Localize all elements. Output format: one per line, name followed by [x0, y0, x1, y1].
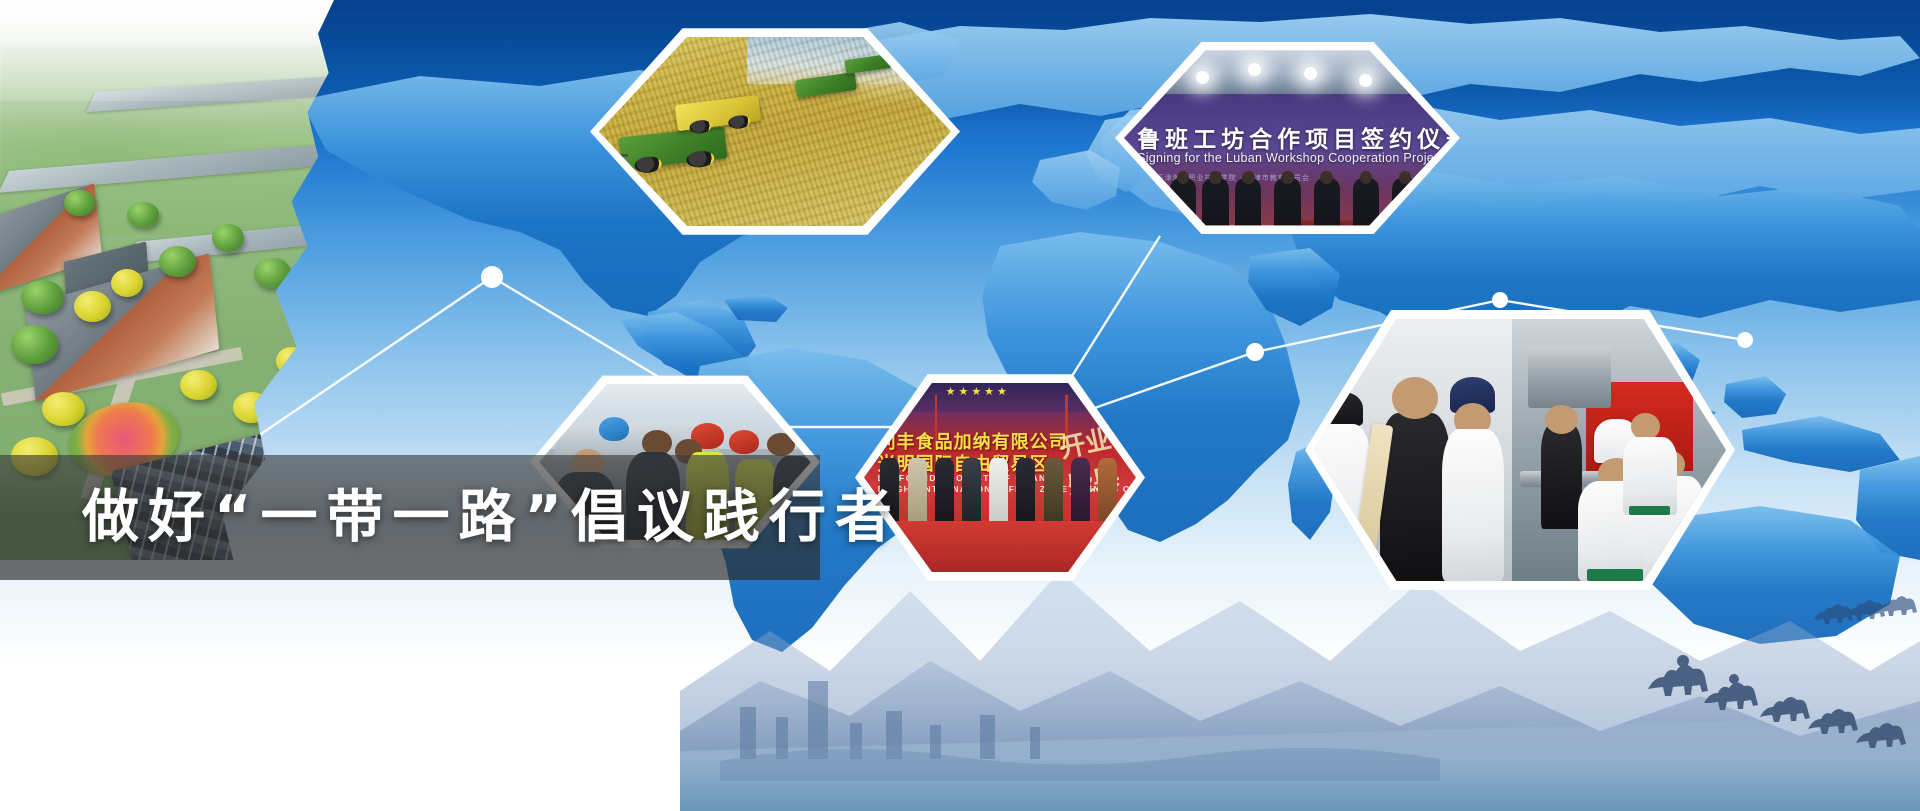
banner-stars: ★★★★★	[946, 385, 1028, 409]
silk-road-watercolor	[680, 511, 1920, 811]
luban-backdrop-cn: 鲁班工坊合作项目签约仪式	[1137, 120, 1438, 154]
blue-hardhat	[599, 417, 629, 441]
kitchen-hood	[1528, 345, 1610, 408]
culinary-exchange-hexagon[interactable]	[1305, 310, 1735, 590]
ceremony-guests	[864, 458, 1136, 525]
red-hardhat	[729, 430, 759, 454]
chef-whites	[1442, 429, 1504, 581]
headline-plaque: 做好“一带一路”倡议践行者	[0, 455, 820, 580]
banner-headline: 做好“一带一路”倡议践行者	[0, 489, 901, 546]
staff-uniform	[1541, 424, 1582, 529]
luban-backdrop-en: Signing for the Luban Workshop Cooperati…	[1137, 151, 1438, 165]
banner-root: 鲁班工坊合作项目签约仪式 Signing for the Luban Works…	[0, 0, 1920, 811]
chef-whites	[1623, 437, 1677, 516]
